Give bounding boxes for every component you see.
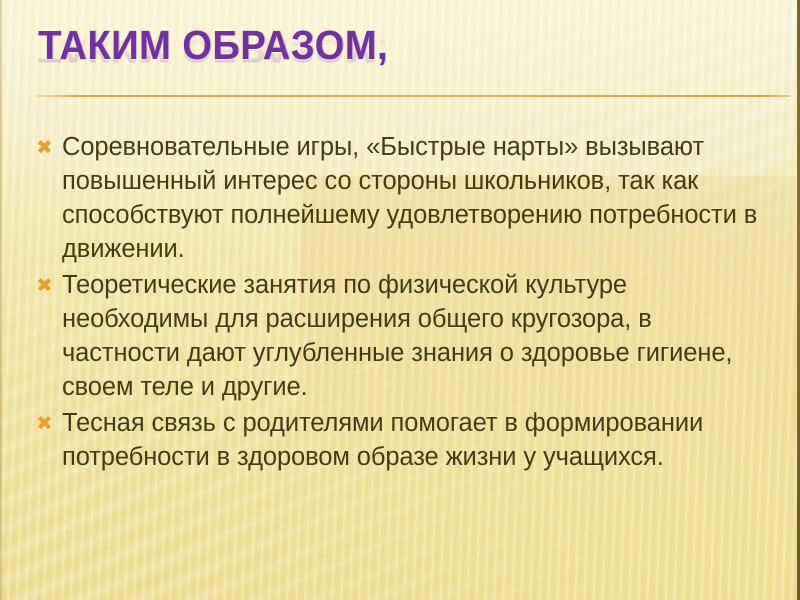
slide-body-content: ✖ Соревновательные игры, «Быстрые нарты»… bbox=[36, 130, 776, 476]
list-item: ✖ Теоретические занятия по физической ку… bbox=[36, 268, 776, 404]
title-divider-rule bbox=[36, 95, 791, 97]
cross-bullet-icon: ✖ bbox=[36, 406, 62, 440]
page-title: Таким образом, bbox=[38, 24, 708, 67]
list-item-text: Соревновательные игры, «Быстрые нарты» в… bbox=[62, 130, 776, 266]
slide-left-border bbox=[0, 0, 2, 600]
presentation-slide: Таким образом, Таким образом, ✖ Соревнов… bbox=[0, 0, 800, 600]
list-item-text: Теоретические занятия по физической куль… bbox=[62, 268, 776, 404]
slide-title-block: Таким образом, Таким образом, bbox=[38, 24, 758, 104]
cross-bullet-icon: ✖ bbox=[36, 268, 62, 302]
list-item: ✖ Тесная связь с родителями помогает в ф… bbox=[36, 406, 776, 474]
list-item-text: Тесная связь с родителями помогает в фор… bbox=[62, 406, 776, 474]
list-item: ✖ Соревновательные игры, «Быстрые нарты»… bbox=[36, 130, 776, 266]
cross-bullet-icon: ✖ bbox=[36, 130, 62, 164]
